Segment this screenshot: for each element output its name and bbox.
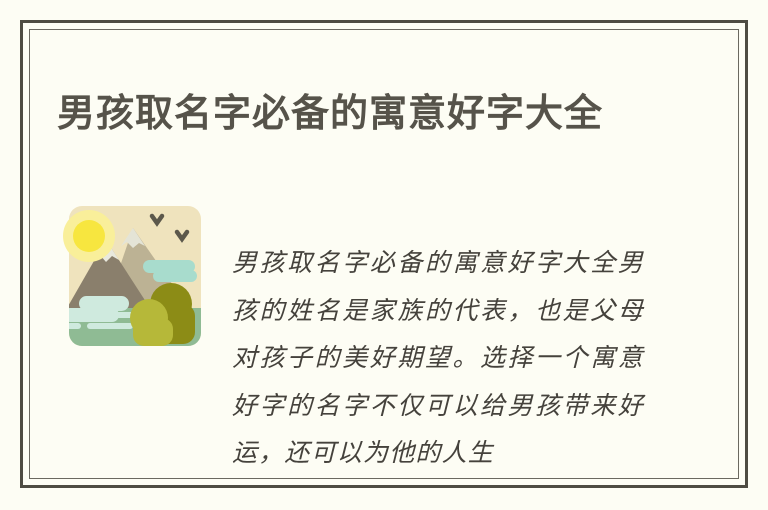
bush-light-base [133, 318, 173, 346]
landscape-svg [61, 204, 209, 356]
mountain-landscape-illustration [61, 204, 209, 356]
page-root: 男孩取名字必备的寓意好字大全 [0, 0, 768, 510]
sun-core [73, 220, 105, 252]
article-paragraph: 男孩取名字必备的寓意好字大全男孩的姓名是家族的代表，也是父母对孩子的美好期望。选… [232, 239, 644, 477]
page-title: 男孩取名字必备的寓意好字大全 [57, 88, 697, 140]
